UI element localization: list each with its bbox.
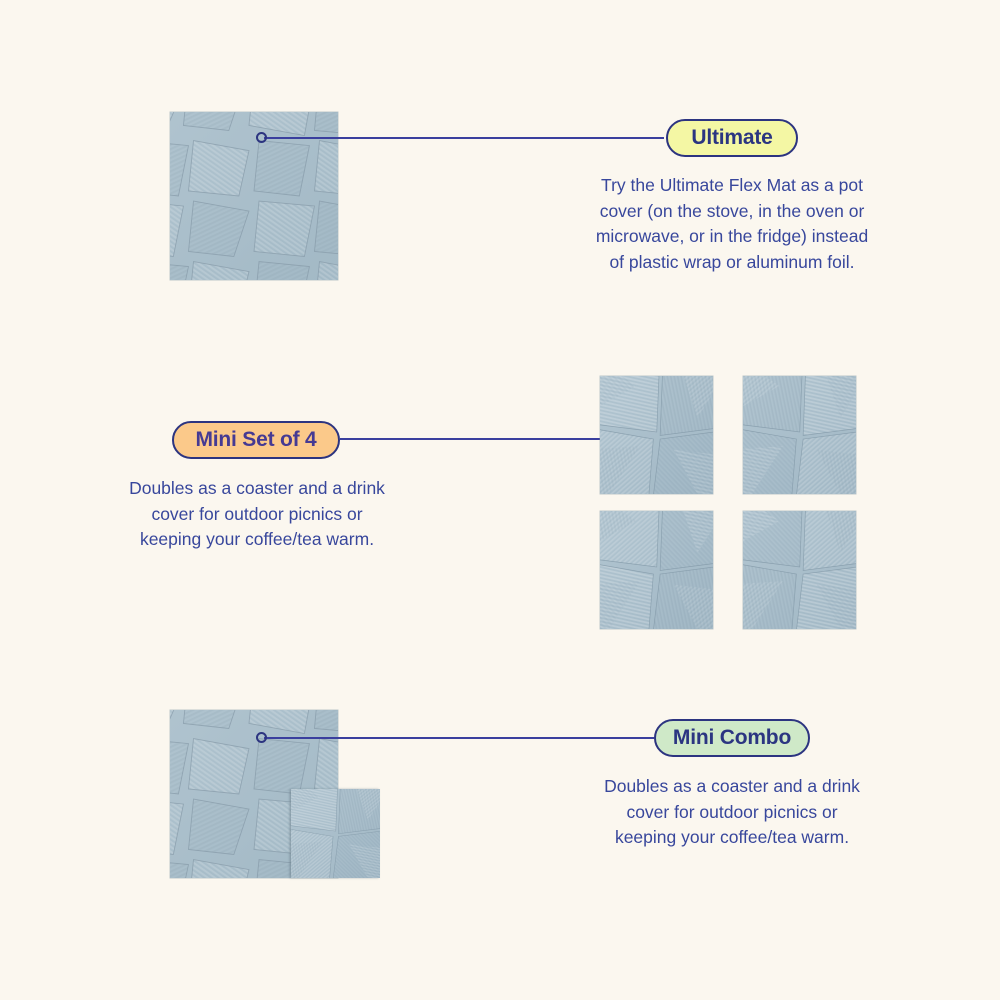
mini-set-of-4-photo-tile-2: [743, 376, 856, 494]
mat-texture: [600, 376, 713, 494]
description-line: cover for outdoor picnics or: [572, 800, 892, 826]
connector-dot: [256, 132, 267, 143]
description-mini-combo: Doubles as a coaster and a drink cover f…: [572, 774, 892, 851]
description-mini-set-of-4: Doubles as a coaster and a drink cover f…: [112, 476, 402, 553]
label-pill-mini-set-of-4-text: Mini Set of 4: [195, 428, 316, 452]
mini-set-of-4-photo-tile-1: [600, 376, 713, 494]
description-line: microwave, or in the fridge) instead: [572, 224, 892, 250]
description-line: of plastic wrap or aluminum foil.: [572, 250, 892, 276]
description-line: Doubles as a coaster and a drink: [112, 476, 402, 502]
connector-line: [264, 737, 654, 739]
label-pill-mini-set-of-4[interactable]: Mini Set of 4: [172, 421, 340, 459]
mat-texture: [600, 511, 713, 629]
mini-set-of-4-photo-tile-4: [743, 511, 856, 629]
label-pill-ultimate-text: Ultimate: [691, 126, 772, 150]
description-line: keeping your coffee/tea warm.: [112, 527, 402, 553]
mini-combo-photo-small-mat: [291, 789, 380, 878]
description-line: Try the Ultimate Flex Mat as a pot: [572, 173, 892, 199]
description-ultimate: Try the Ultimate Flex Mat as a pot cover…: [572, 173, 892, 275]
label-pill-mini-combo[interactable]: Mini Combo: [654, 719, 810, 757]
description-line: Doubles as a coaster and a drink: [572, 774, 892, 800]
description-line: cover for outdoor picnics or: [112, 502, 402, 528]
connector-line: [264, 137, 664, 139]
mini-set-of-4-photo-tile-3: [600, 511, 713, 629]
label-pill-mini-combo-text: Mini Combo: [673, 726, 791, 750]
mat-texture: [743, 376, 856, 494]
description-line: cover (on the stove, in the oven or: [572, 199, 892, 225]
mat-texture: [291, 789, 380, 878]
label-pill-ultimate[interactable]: Ultimate: [666, 119, 798, 157]
description-line: keeping your coffee/tea warm.: [572, 825, 892, 851]
mat-texture: [743, 511, 856, 629]
connector-dot: [256, 732, 267, 743]
infographic-canvas: Ultimate Try the Ultimate Flex Mat as a …: [0, 0, 1000, 1000]
